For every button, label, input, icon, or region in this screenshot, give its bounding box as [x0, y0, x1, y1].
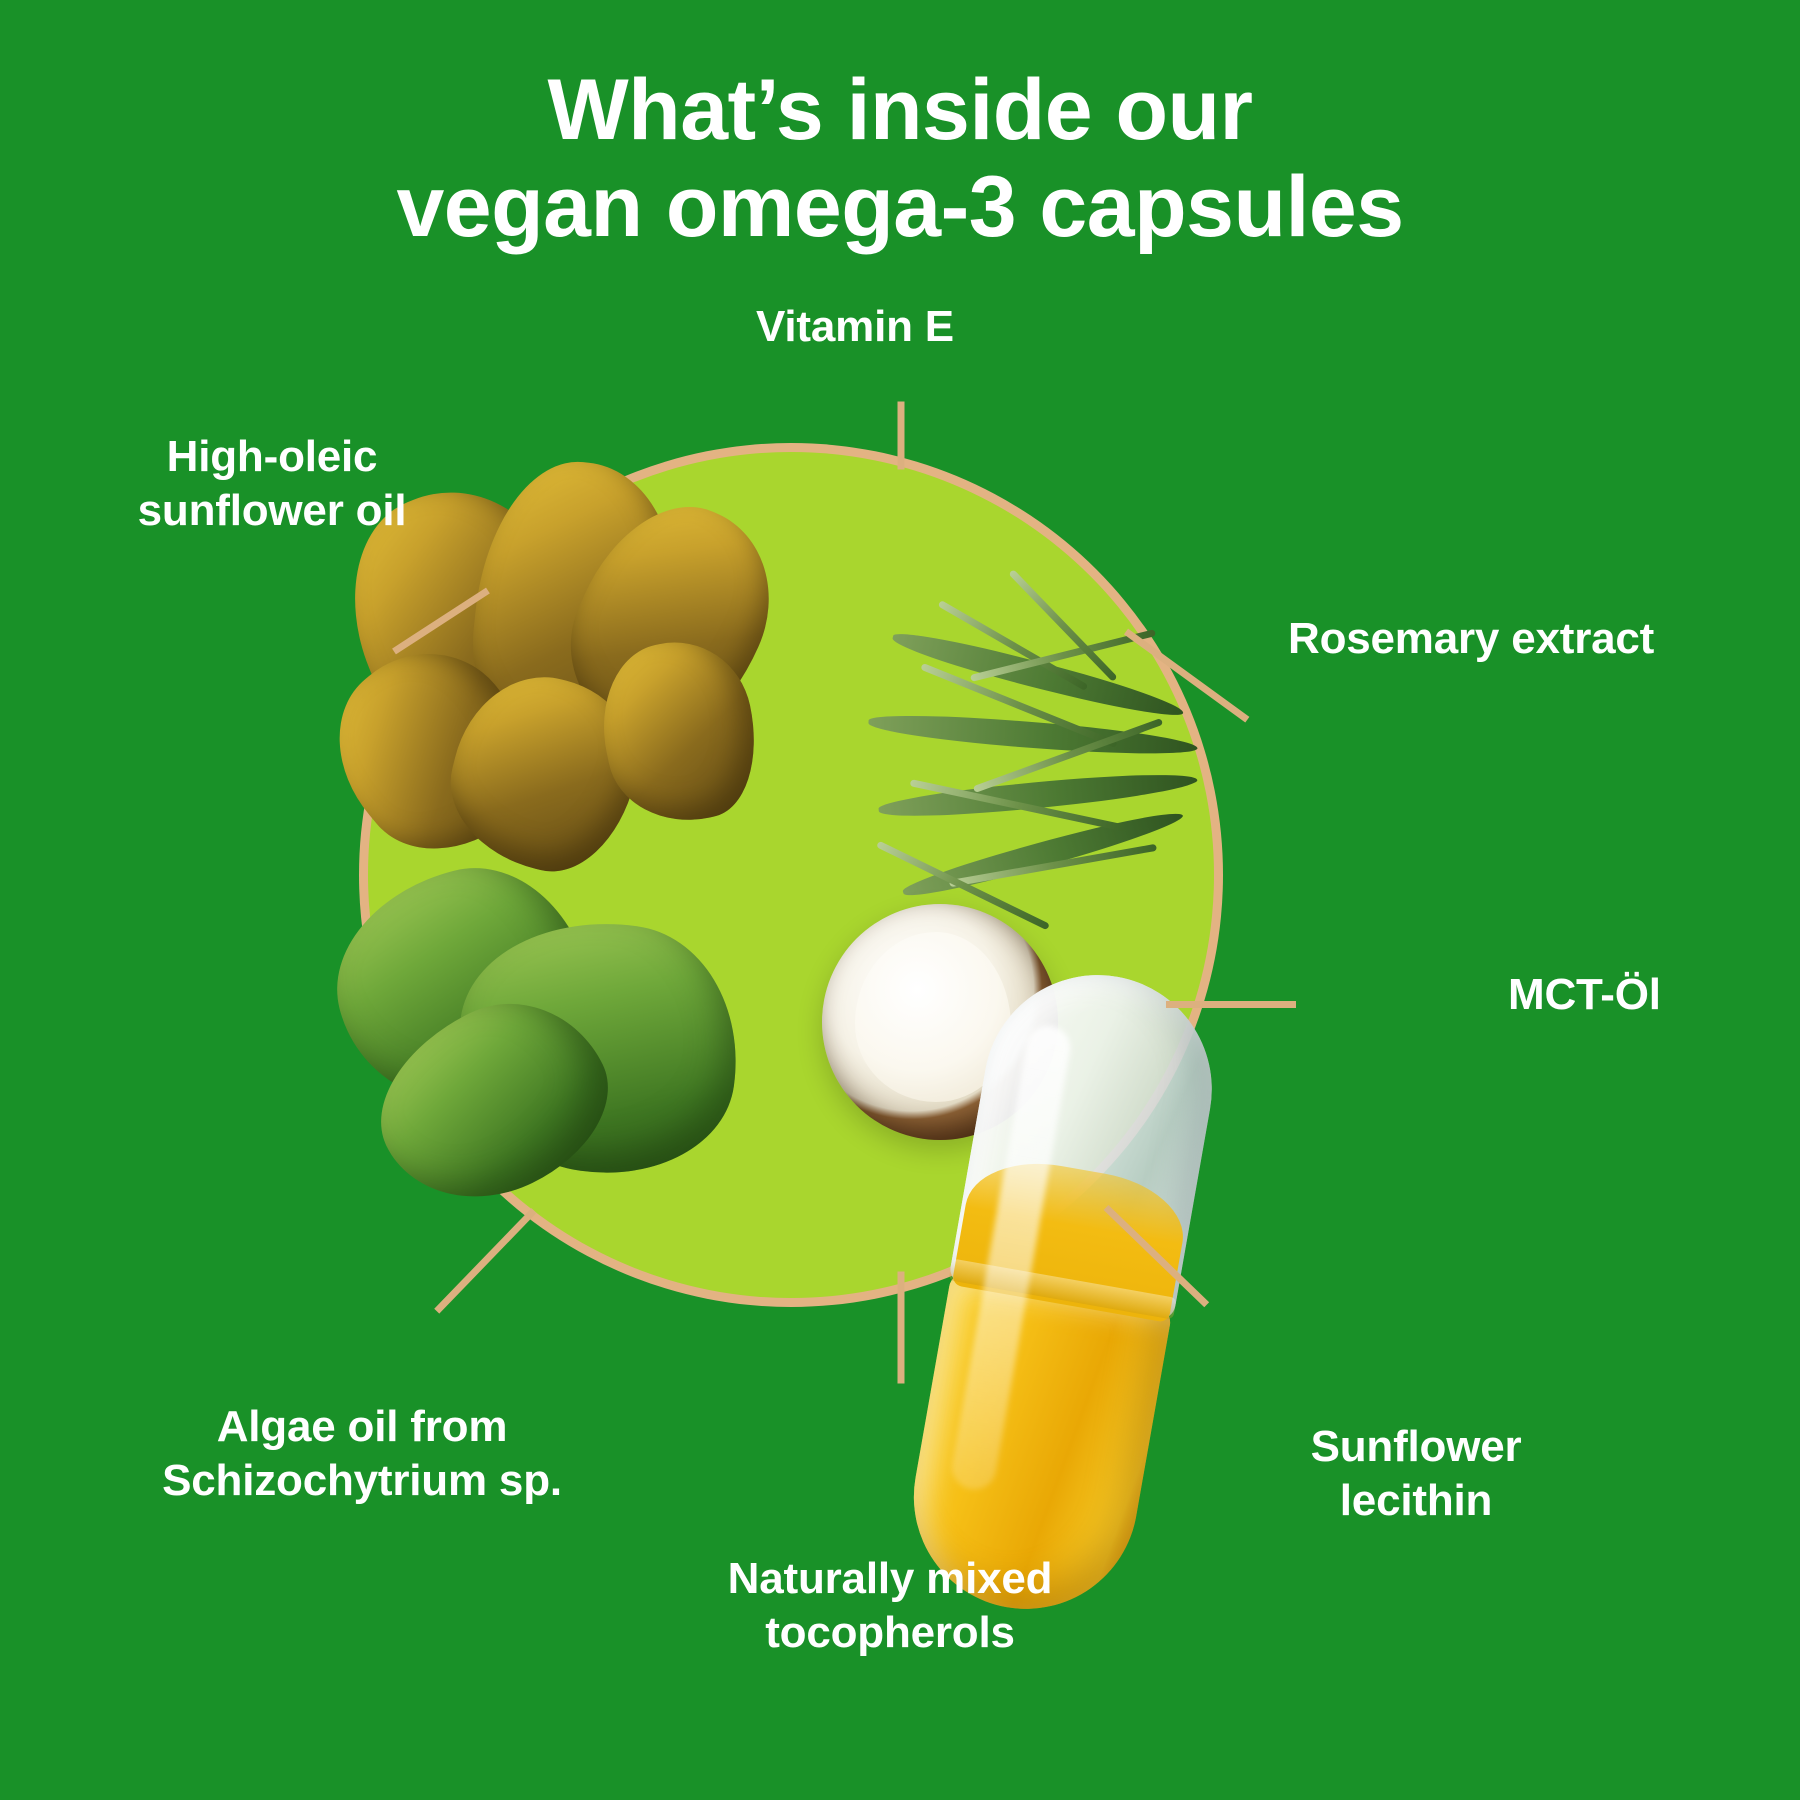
page-title: What’s inside our vegan omega-3 capsules [0, 62, 1800, 256]
label-naturally-mixed-tocopherols: Naturally mixed tocopherols [580, 1552, 1200, 1659]
label-mct-oil: MCT-Öl [1508, 968, 1768, 1022]
connector-line-vitamin-e [898, 402, 905, 470]
label-vitamin-e: Vitamin E [640, 300, 1070, 354]
connector-line-tocopherols [898, 1272, 905, 1384]
product-illustration [368, 452, 1214, 1298]
label-high-oleic-sunflower-oil: High-oleic sunflower oil [62, 430, 482, 537]
title-line-2: vegan omega-3 capsules [0, 159, 1800, 256]
connector-line-mct-oil [1166, 1001, 1296, 1008]
label-algae-oil-schizochytrium: Algae oil from Schizochytrium sp. [52, 1400, 672, 1507]
label-sunflower-lecithin: Sunflower lecithin [1226, 1420, 1606, 1527]
infographic-canvas: What’s inside our vegan omega-3 capsules [0, 0, 1800, 1800]
label-rosemary-extract: Rosemary extract [1288, 612, 1768, 666]
title-line-1: What’s inside our [0, 62, 1800, 159]
